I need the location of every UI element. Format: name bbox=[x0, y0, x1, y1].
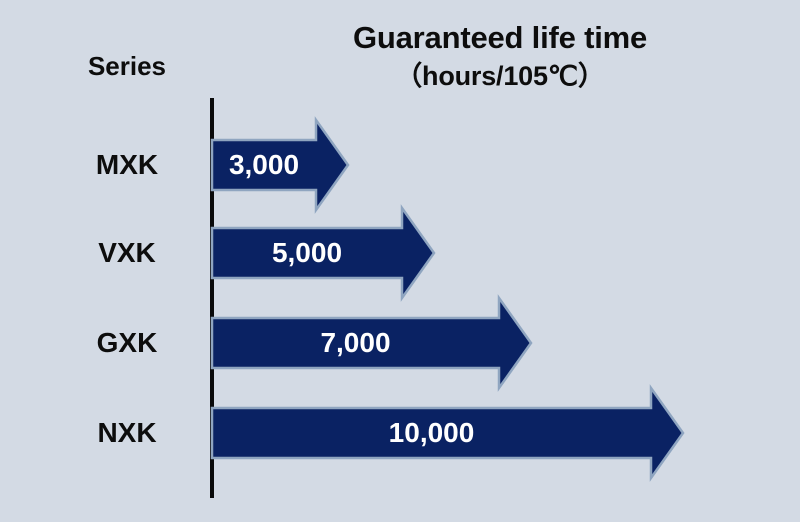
chart-title: Guaranteed life time （hours/105℃） bbox=[230, 18, 770, 94]
arrow-shape bbox=[212, 208, 434, 298]
category-label-gxk: GXK bbox=[62, 328, 192, 358]
category-label-mxk: MXK bbox=[62, 150, 192, 180]
bar-arrow-mxk: 3,000 bbox=[212, 120, 348, 210]
series-axis-header: Series bbox=[62, 50, 192, 82]
chart-title-subtitle: （hours/105℃） bbox=[230, 58, 770, 94]
arrow-shape bbox=[212, 120, 348, 210]
bar-arrow-vxk: 5,000 bbox=[212, 208, 434, 298]
category-label-nxk: NXK bbox=[62, 418, 192, 448]
bar-arrow-nxk: 10,000 bbox=[212, 388, 683, 478]
category-label-vxk: VXK bbox=[62, 238, 192, 268]
chart-container: Guaranteed life time （hours/105℃） Series… bbox=[0, 0, 800, 522]
chart-title-main: Guaranteed life time bbox=[230, 18, 770, 58]
bar-arrow-gxk: 7,000 bbox=[212, 298, 531, 388]
arrow-shape bbox=[212, 298, 531, 388]
arrow-shape bbox=[212, 388, 683, 478]
